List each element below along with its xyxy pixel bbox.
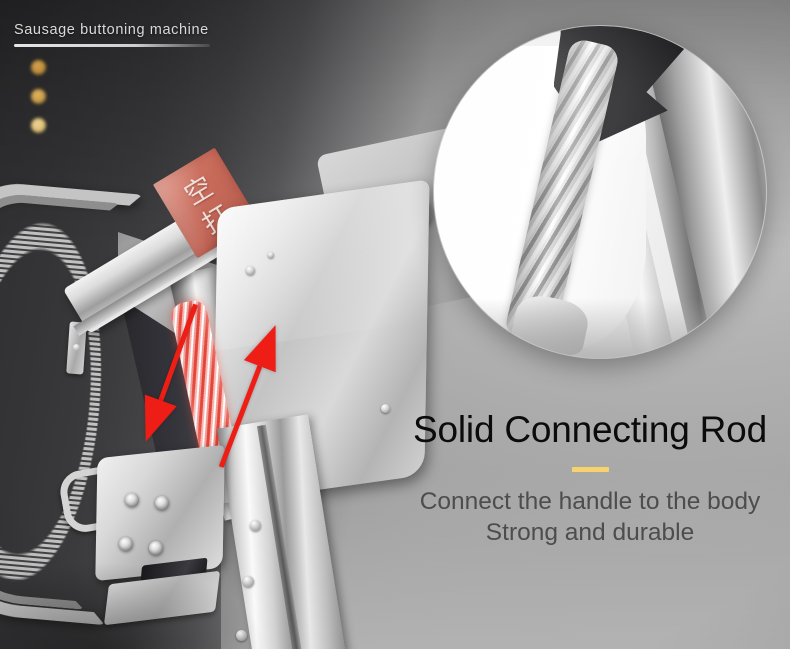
callout-block: Solid Connecting Rod Connect the handle … xyxy=(395,410,785,549)
page-title: Sausage buttoning machine xyxy=(14,22,254,38)
product-banner: 空 打 xyxy=(0,0,790,649)
dot-icon xyxy=(31,60,46,75)
callout-divider xyxy=(572,467,609,472)
dot-icon xyxy=(31,118,46,133)
callout-title: Solid Connecting Rod xyxy=(395,410,785,450)
callout-subtitle-line-1: Connect the handle to the body xyxy=(395,486,785,517)
header-divider xyxy=(14,44,210,47)
header-block: Sausage buttoning machine xyxy=(14,22,254,47)
background-vignette xyxy=(0,0,790,649)
callout-subtitle-line-2: Strong and durable xyxy=(395,517,785,548)
decorative-dots xyxy=(31,60,46,147)
dot-icon xyxy=(31,89,46,104)
